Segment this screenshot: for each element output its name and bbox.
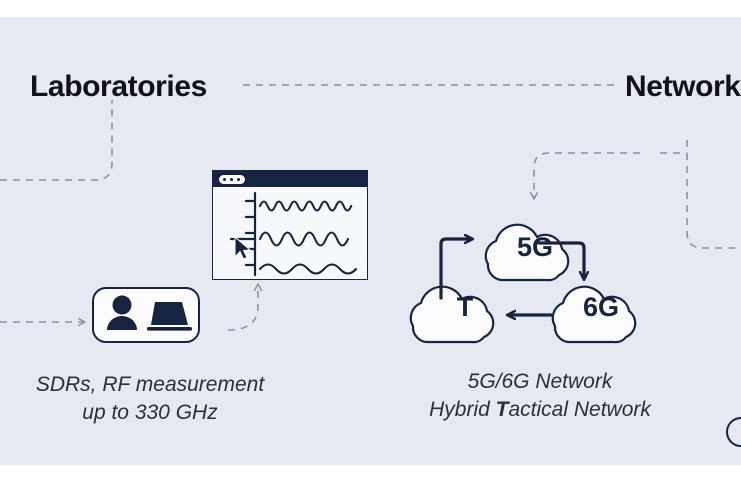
caption-laboratories: SDRs, RF measurement up to 330 GHz bbox=[0, 371, 300, 427]
person-icon-body bbox=[107, 316, 137, 330]
cloud-label-t: T bbox=[425, 292, 505, 323]
trace-low-frequency-sine bbox=[260, 265, 356, 274]
section-title-laboratories: Laboratories bbox=[30, 70, 207, 104]
plot-axis-ticks bbox=[246, 201, 255, 265]
section-title-network: Network bbox=[625, 70, 741, 104]
waveform-plot bbox=[213, 187, 369, 280]
cloud-label-6g: 6G bbox=[561, 292, 641, 323]
trace-mid-frequency-sine bbox=[260, 233, 348, 246]
connector-left-edge-to-labs bbox=[0, 100, 112, 180]
cloud-label-5g: 5G bbox=[495, 232, 575, 263]
caption-network-line2-bold-t: T bbox=[496, 398, 509, 421]
researcher-with-laptop-card[interactable] bbox=[92, 287, 200, 343]
laptop-icon-screen bbox=[151, 302, 188, 325]
connector-network-down-to-5g bbox=[534, 153, 640, 198]
window-dots-icon bbox=[219, 175, 245, 184]
window-titlebar bbox=[213, 171, 367, 187]
infographic-canvas: Laboratories Network bbox=[0, 0, 741, 486]
caption-network-line2: Hybrid Tactical Network bbox=[395, 396, 685, 424]
person-icon-head bbox=[113, 296, 132, 315]
caption-laboratories-line2: up to 330 GHz bbox=[0, 399, 300, 427]
connector-person-to-analyzer bbox=[228, 285, 258, 330]
caption-network-line2-prefix: Hybrid bbox=[429, 398, 496, 421]
caption-laboratories-line1: SDRs, RF measurement bbox=[0, 371, 300, 399]
network-cycle-diagram: 5G 6G T bbox=[405, 212, 675, 347]
connector-network-right-branch bbox=[687, 140, 741, 248]
rf-spectrum-analyzer-window[interactable] bbox=[212, 170, 368, 280]
mouse-pointer-icon bbox=[235, 237, 250, 259]
laptop-icon-base bbox=[147, 327, 192, 331]
caption-network-line2-suffix: actical Network bbox=[508, 398, 650, 421]
caption-network-line1: 5G/6G Network bbox=[395, 368, 685, 396]
trace-high-frequency-sine bbox=[260, 202, 351, 211]
caption-network: 5G/6G Network Hybrid Tactical Network bbox=[395, 368, 685, 424]
